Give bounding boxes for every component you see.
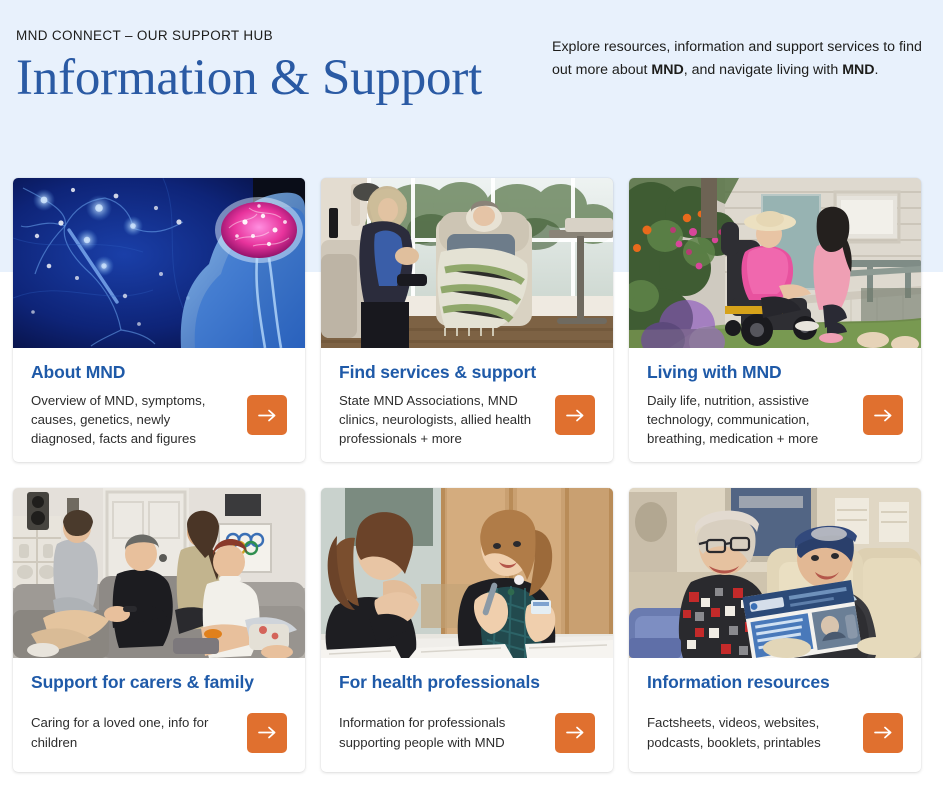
card-description: Overview of MND, symptoms, causes, genet… — [31, 391, 247, 448]
card-arrow-button[interactable] — [247, 395, 287, 435]
card-body: Support for carers & family Caring for a… — [13, 658, 305, 772]
hero-intro-segment-3: . — [875, 62, 879, 78]
neuron-brain-illustration — [13, 178, 305, 348]
card-description: State MND Associations, MND clinics, neu… — [339, 391, 555, 448]
card-body: For health professionals Information for… — [321, 658, 613, 772]
arrow-right-icon — [258, 726, 277, 739]
arrow-right-icon — [874, 409, 893, 422]
card-content-row: Information for professionals supporting… — [339, 709, 595, 756]
card-body: Information resources Factsheets, videos… — [629, 658, 921, 772]
card-for-health-professionals[interactable]: For health professionals Information for… — [321, 488, 613, 772]
card-description: Daily life, nutrition, assistive technol… — [647, 391, 863, 448]
card-living-with-mnd[interactable]: Living with MND Daily life, nutrition, a… — [629, 178, 921, 462]
hero-intro-text: Explore resources, information and suppo… — [552, 36, 924, 82]
card-content-row: Daily life, nutrition, assistive technol… — [647, 391, 903, 448]
card-title: Living with MND — [647, 362, 903, 383]
hero-intro-segment-2: , and navigate living with — [684, 62, 843, 78]
card-content-row: Caring for a loved one, info for childre… — [31, 709, 287, 756]
arrow-right-icon — [566, 409, 585, 422]
garden-ramp-powerchair-user-photo — [629, 178, 921, 348]
card-title: About MND — [31, 362, 287, 383]
hero-intro-bold-1: MND — [651, 62, 683, 78]
card-body: About MND Overview of MND, symptoms, cau… — [13, 348, 305, 462]
card-body: Find services & support State MND Associ… — [321, 348, 613, 462]
card-information-resources[interactable]: Information resources Factsheets, videos… — [629, 488, 921, 772]
card-arrow-button[interactable] — [863, 395, 903, 435]
two-professionals-in-meeting-photo — [321, 488, 613, 658]
card-title: For health professionals — [339, 672, 595, 693]
card-description: Information for professionals supporting… — [339, 713, 555, 751]
card-title: Information resources — [647, 672, 903, 693]
card-arrow-button[interactable] — [555, 713, 595, 753]
card-find-services-support[interactable]: Find services & support State MND Associ… — [321, 178, 613, 462]
card-body: Living with MND Daily life, nutrition, a… — [629, 348, 921, 462]
arrow-right-icon — [258, 409, 277, 422]
living-room-carer-and-man-in-recliner-photo — [321, 178, 613, 348]
couple-reading-brochure-photo — [629, 488, 921, 658]
card-arrow-button[interactable] — [555, 395, 595, 435]
hero-intro-bold-2: MND — [842, 62, 874, 78]
family-on-lounge-photo — [13, 488, 305, 658]
card-content-row: State MND Associations, MND clinics, neu… — [339, 391, 595, 448]
card-arrow-button[interactable] — [863, 713, 903, 753]
card-description: Factsheets, videos, websites, podcasts, … — [647, 713, 863, 751]
card-content-row: Factsheets, videos, websites, podcasts, … — [647, 709, 903, 756]
card-content-row: Overview of MND, symptoms, causes, genet… — [31, 391, 287, 448]
card-title: Support for carers & family — [31, 672, 287, 693]
arrow-right-icon — [874, 726, 893, 739]
card-about-mnd[interactable]: About MND Overview of MND, symptoms, cau… — [13, 178, 305, 462]
arrow-right-icon — [566, 726, 585, 739]
card-support-for-carers-family[interactable]: Support for carers & family Caring for a… — [13, 488, 305, 772]
card-description: Caring for a loved one, info for childre… — [31, 713, 247, 751]
card-grid: About MND Overview of MND, symptoms, cau… — [13, 178, 930, 772]
card-arrow-button[interactable] — [247, 713, 287, 753]
card-title: Find services & support — [339, 362, 595, 383]
